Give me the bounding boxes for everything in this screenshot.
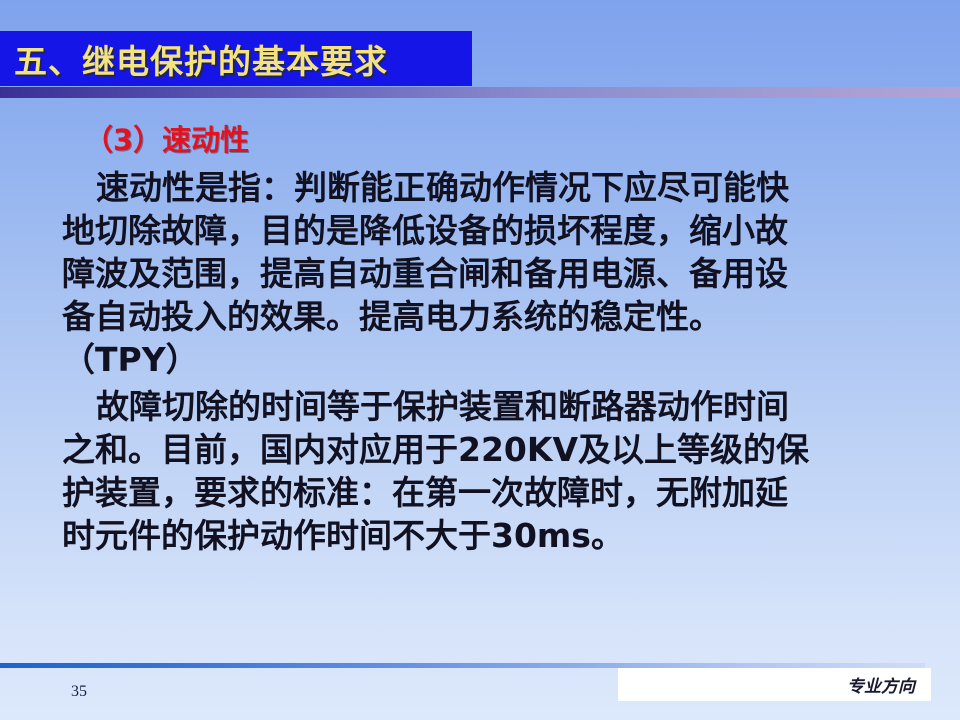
body-line: 障波及范围，提高自动重合闸和备用电源、备用设 [62, 252, 960, 295]
page-number: 35 [71, 683, 87, 701]
slide-title-text: 五、继电保护的基本要求 [0, 35, 388, 83]
body-line: 之和。目前，国内对应用于220KV及以上等级的保 [62, 428, 960, 471]
slide-canvas: 五、继电保护的基本要求 （3）速动性 速动性是指：判断能正确动作情况下应尽可能快… [0, 0, 960, 720]
body-line: 地切除故障，目的是降低设备的损坏程度，缩小故 [62, 209, 960, 252]
section-sub-heading: （3）速动性 [84, 118, 960, 162]
slide-body: （3）速动性 速动性是指：判断能正确动作情况下应尽可能快 地切除故障，目的是降低… [0, 118, 960, 557]
slide-title-bar: 五、继电保护的基本要求 [0, 31, 472, 86]
body-line: 速动性是指：判断能正确动作情况下应尽可能快 [62, 166, 960, 209]
footer-brand-box: 专业方向 [618, 668, 931, 701]
footer-brand-label: 专业方向 [847, 672, 931, 697]
body-line: 备自动投入的效果。提高电力系统的稳定性。 [62, 295, 960, 338]
body-line: 护装置，要求的标准：在第一次故障时，无附加延 [62, 471, 960, 514]
body-line: 时元件的保护动作时间不大于30ms。 [62, 514, 960, 557]
body-line-tpy: （TPY） [62, 338, 960, 381]
body-line: 故障切除的时间等于保护装置和断路器动作时间 [62, 385, 960, 428]
title-divider-bar [0, 87, 960, 98]
